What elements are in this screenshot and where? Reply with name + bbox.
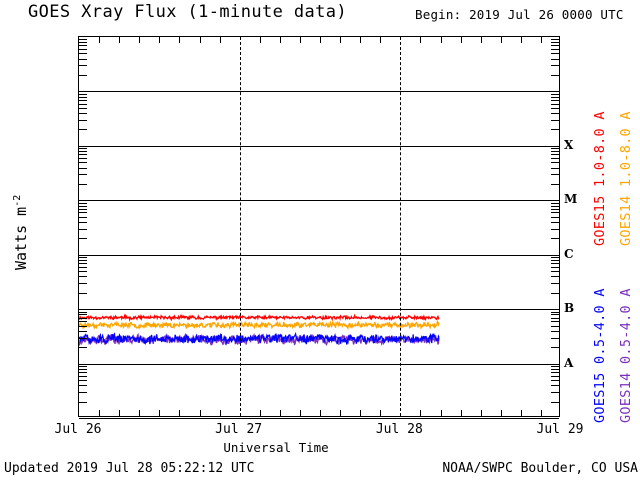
y-minor-tick [551,326,559,327]
y-minor-tick [79,271,87,272]
x-minor-tick [280,37,281,43]
y-minor-tick [79,338,87,339]
y-minor-tick [79,222,87,223]
y-minor-tick [79,318,87,319]
y-minor-tick [551,209,559,210]
y-minor-tick [79,238,87,239]
x-minor-tick [200,410,201,416]
y-minor-tick [79,347,87,348]
x-minor-tick [179,37,180,43]
y-minor-tick [551,113,559,114]
y-minor-tick [79,206,87,207]
y-minor-tick [79,380,87,381]
y-minor-tick [551,321,559,322]
y-minor-tick [79,293,87,294]
y-minor-tick [79,151,87,152]
trace-goes14-1-0-8-0-a [79,321,439,328]
y-minor-tick [551,65,559,66]
x-minor-tick [260,410,261,416]
x-tick-label: Jul 28 [376,422,423,437]
y-minor-tick [79,385,87,386]
y-minor-tick [79,276,87,277]
page-title: GOES Xray Flux (1-minute data) [28,2,347,22]
y-minor-tick [551,53,559,54]
y-minor-tick [551,380,559,381]
y-minor-tick [551,162,559,163]
x-minor-tick [360,410,361,416]
y-minor-tick [551,75,559,76]
y-minor-tick [79,49,87,50]
y-axis-title-exponent: -2 [12,195,23,207]
y-minor-tick [551,97,559,98]
x-minor-tick [99,37,100,43]
legend-label-2: GOES15 0.5-4.0 A [592,288,608,423]
y-minor-tick [79,260,87,261]
y-minor-tick [79,108,87,109]
x-tick-label: Jul 26 [55,422,102,437]
x-minor-tick [280,410,281,416]
x-minor-tick [360,37,361,43]
x-minor-tick [441,37,442,43]
y-minor-tick [79,402,87,403]
y-minor-tick [551,312,559,313]
x-minor-tick [300,410,301,416]
y-minor-tick [79,263,87,264]
y-minor-tick [551,100,559,101]
y-minor-tick [551,148,559,149]
y-minor-tick [551,338,559,339]
y-minor-tick [79,229,87,230]
x-minor-tick [441,410,442,416]
y-minor-tick [551,369,559,370]
y-minor-tick [551,260,559,261]
y-minor-tick [79,184,87,185]
flare-class-c: C [564,247,574,261]
y-minor-tick [79,267,87,268]
y-minor-tick [551,49,559,50]
y-minor-tick [551,347,559,348]
flare-class-b: B [564,301,574,315]
x-minor-tick [380,37,381,43]
gridline-horizontal [79,255,559,256]
y-minor-tick [79,312,87,313]
y-minor-tick [551,392,559,393]
x-minor-tick [420,410,421,416]
y-minor-tick [551,168,559,169]
x-minor-tick [320,410,321,416]
y-minor-tick [551,372,559,373]
y-minor-tick [79,376,87,377]
y-minor-tick [79,97,87,98]
x-minor-tick [461,410,462,416]
y-minor-tick [79,42,87,43]
y-minor-tick [551,222,559,223]
legend-label-1: GOES14 1.0-8.0 A [618,111,634,246]
x-minor-tick [501,410,502,416]
y-minor-tick [79,65,87,66]
y-minor-tick [551,271,559,272]
x-minor-tick [481,37,482,43]
begin-timestamp: Begin: 2019 Jul 26 0000 UTC [415,7,624,22]
y-minor-tick [551,184,559,185]
flare-class-a: A [564,356,573,370]
y-minor-tick [79,94,87,95]
y-minor-tick [551,331,559,332]
x-minor-tick [159,37,160,43]
y-minor-tick [551,151,559,152]
y-minor-tick [551,229,559,230]
y-minor-tick [551,206,559,207]
y-minor-tick [551,263,559,264]
y-minor-tick [551,59,559,60]
y-minor-tick [551,154,559,155]
gridline-horizontal [79,364,559,365]
y-minor-tick [79,217,87,218]
y-minor-tick [551,158,559,159]
x-minor-tick [481,410,482,416]
y-minor-tick [551,39,559,40]
y-minor-tick [79,100,87,101]
y-minor-tick [79,104,87,105]
gridline-horizontal [79,200,559,201]
y-minor-tick [79,326,87,327]
y-minor-tick [79,209,87,210]
x-minor-tick [99,410,100,416]
gridline-horizontal [79,309,559,310]
y-minor-tick [79,212,87,213]
y-minor-tick [79,257,87,258]
y-minor-tick [79,203,87,204]
y-minor-tick [79,120,87,121]
x-minor-tick [461,37,462,43]
y-minor-tick [551,283,559,284]
y-minor-tick [79,45,87,46]
y-minor-tick [551,276,559,277]
y-minor-tick [79,59,87,60]
gridline-vertical-day [400,37,401,416]
data-traces [79,37,561,418]
x-minor-tick [119,410,120,416]
x-minor-tick [260,37,261,43]
y-minor-tick [551,120,559,121]
legend-label-0: GOES15 1.0-8.0 A [592,111,608,246]
x-minor-tick [320,37,321,43]
x-minor-tick [300,37,301,43]
y-minor-tick [551,314,559,315]
y-minor-tick [551,376,559,377]
x-minor-tick [220,410,221,416]
y-minor-tick [551,402,559,403]
y-minor-tick [551,318,559,319]
y-minor-tick [79,392,87,393]
updated-timestamp: Updated 2019 Jul 28 05:22:12 UTC [4,461,254,476]
y-minor-tick [551,42,559,43]
y-minor-tick [551,94,559,95]
x-minor-tick [220,37,221,43]
flare-class-m: M [564,192,577,206]
legend-label-3: GOES14 0.5-4.0 A [618,288,634,423]
y-minor-tick [79,39,87,40]
x-minor-tick [119,37,120,43]
x-minor-tick [200,37,201,43]
y-minor-tick [79,53,87,54]
x-minor-tick [340,37,341,43]
gridline-vertical-day [240,37,241,416]
gridline-horizontal [79,91,559,92]
y-minor-tick [551,212,559,213]
y-minor-tick [79,113,87,114]
gridline-horizontal [79,146,559,147]
y-minor-tick [79,154,87,155]
y-axis-title: Watts m-2 [12,246,30,270]
flare-class-x: X [564,138,573,152]
y-minor-tick [79,148,87,149]
x-tick-label: Jul 29 [537,422,584,437]
y-minor-tick [551,108,559,109]
x-minor-tick [380,410,381,416]
x-minor-tick [521,410,522,416]
y-minor-tick [551,129,559,130]
y-minor-tick [79,372,87,373]
x-minor-tick [541,37,542,43]
x-minor-tick [179,410,180,416]
trace-goes15-1-0-8-0-a [79,316,439,320]
y-axis-title-text: Watts m [12,207,30,270]
x-minor-tick [139,410,140,416]
y-minor-tick [551,267,559,268]
y-minor-tick [551,45,559,46]
y-minor-tick [79,283,87,284]
y-minor-tick [79,314,87,315]
y-minor-tick [79,369,87,370]
y-minor-tick [551,104,559,105]
y-minor-tick [79,158,87,159]
x-axis-title: Universal Time [223,440,328,455]
y-minor-tick [551,257,559,258]
x-minor-tick [501,37,502,43]
gridline-horizontal [79,418,559,419]
credit-text: NOAA/SWPC Boulder, CO USA [442,461,638,476]
y-minor-tick [79,162,87,163]
plot-area [78,36,560,417]
y-minor-tick [551,238,559,239]
x-minor-tick [340,410,341,416]
y-minor-tick [79,321,87,322]
x-tick-label: Jul 27 [215,422,262,437]
y-minor-tick [79,366,87,367]
y-minor-tick [551,217,559,218]
x-minor-tick [541,410,542,416]
x-minor-tick [521,37,522,43]
y-minor-tick [79,168,87,169]
x-minor-tick [420,37,421,43]
y-minor-tick [551,203,559,204]
y-minor-tick [79,129,87,130]
x-minor-tick [159,410,160,416]
y-minor-tick [79,75,87,76]
y-minor-tick [551,174,559,175]
y-minor-tick [551,385,559,386]
y-minor-tick [79,174,87,175]
y-minor-tick [551,293,559,294]
y-minor-tick [79,331,87,332]
y-minor-tick [551,366,559,367]
x-minor-tick [139,37,140,43]
